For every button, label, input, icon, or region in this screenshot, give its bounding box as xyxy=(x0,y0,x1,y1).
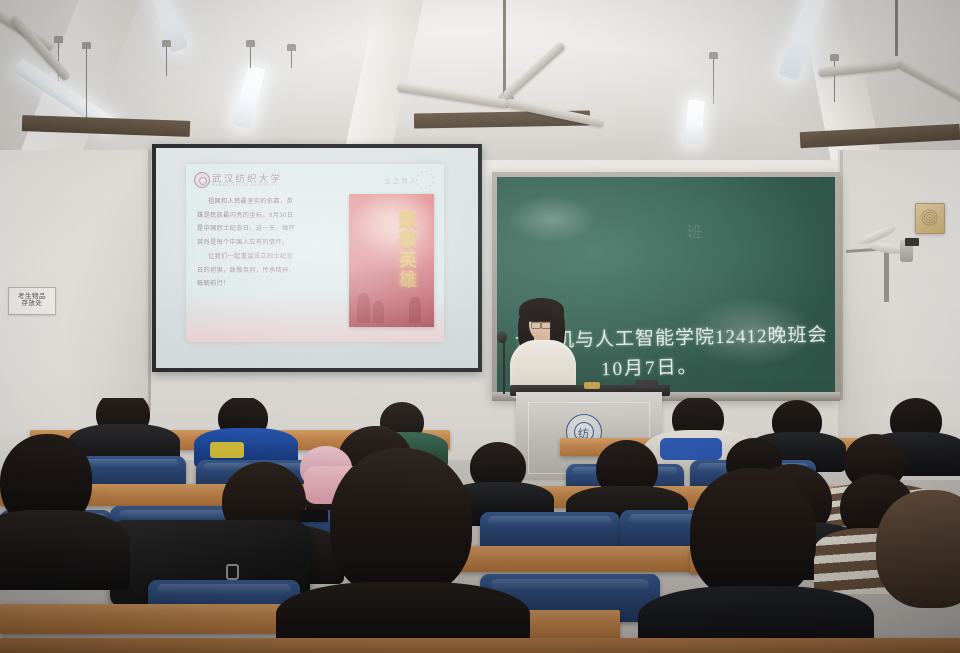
presenter xyxy=(500,296,590,396)
presenter-glasses xyxy=(531,321,551,328)
smartphone xyxy=(300,510,328,522)
chair xyxy=(480,512,620,550)
slide-header: 武汉纺织大学 WUHAN TEXTILE UNIVERSITY 立之为人 xyxy=(194,171,436,191)
poster-figure xyxy=(357,293,370,323)
slide-brand-text: 立之为人 xyxy=(384,175,418,185)
slide-brand-mark-icon xyxy=(416,171,434,189)
audience-area xyxy=(0,398,960,653)
university-name-english: WUHAN TEXTILE UNIVERSITY xyxy=(212,183,278,187)
podium-object xyxy=(584,382,600,389)
light-wire xyxy=(834,56,835,102)
chalk-smudge xyxy=(507,195,597,243)
classroom-photo: 考生物品 存放处 武汉纺织大学 WUHAN TEXTILE UNIVERSITY… xyxy=(0,0,960,653)
wall-speaker xyxy=(915,203,945,234)
wall-corner-edge xyxy=(148,150,151,410)
fan-rod xyxy=(895,0,898,56)
light-mount xyxy=(82,42,91,49)
light-mount xyxy=(830,54,839,61)
desk-row xyxy=(0,638,960,653)
slide-line: 让我们一起重温设立烈士纪念 xyxy=(197,251,325,264)
slide-poster-image: 致敬英雄 xyxy=(349,194,434,327)
wall-corner-edge xyxy=(840,150,843,400)
slide-line: 英烈是每个中国人应有的情怀。 xyxy=(197,237,325,250)
wall-fan-pole xyxy=(884,250,889,302)
blackboard-meeting-text: 晚班会 xyxy=(767,325,827,347)
blackboard-faint-text: 班 xyxy=(687,221,706,242)
slide-line: 祖国和人民最坚实的依靠，英 xyxy=(197,196,325,209)
backpack-buckle xyxy=(226,564,239,580)
presentation-slide: 武汉纺织大学 WUHAN TEXTILE UNIVERSITY 立之为人 祖国和… xyxy=(186,164,444,342)
light-mount xyxy=(709,52,718,59)
wall-fixture xyxy=(905,238,919,246)
light-mount xyxy=(54,36,63,43)
slide-line: 是中国烈士纪念日。这一天，缅怀 xyxy=(197,223,325,236)
sign-line-2: 存放处 xyxy=(22,301,43,308)
light-wire xyxy=(86,44,87,122)
projection-screen: 武汉纺织大学 WUHAN TEXTILE UNIVERSITY 立之为人 祖国和… xyxy=(152,144,482,372)
blackboard-line-2: 10月7日。 xyxy=(601,352,699,382)
light-mount xyxy=(246,40,255,47)
microphone-stand xyxy=(503,338,505,394)
light-mount xyxy=(287,44,296,51)
university-logo-icon xyxy=(194,172,210,188)
wall-sign-exam-storage: 考生物品 存放处 xyxy=(8,287,56,315)
poster-figure xyxy=(373,301,384,323)
poster-silhouettes xyxy=(349,266,434,327)
slide-body-text: 祖国和人民最坚实的依靠，英 雄是民族最闪亮的坐标。9月30日 是中国烈士纪念日。… xyxy=(197,196,325,292)
student-bag-yellow xyxy=(210,442,244,458)
blackboard-class-number: 12412 xyxy=(715,326,768,348)
student-head xyxy=(330,448,472,598)
student-head xyxy=(690,468,816,600)
student-shoulders xyxy=(0,510,130,590)
light-mount xyxy=(162,40,171,47)
slide-line: 日的初衷，致敬英烈，传承精神， xyxy=(197,265,325,278)
projection-surface: 武汉纺织大学 WUHAN TEXTILE UNIVERSITY 立之为人 祖国和… xyxy=(156,148,478,368)
slide-line: 砥砺前行！ xyxy=(197,278,325,291)
fan-rod xyxy=(503,0,506,96)
microphone-head xyxy=(497,331,507,343)
light-wire xyxy=(166,42,167,76)
podium-object xyxy=(636,380,658,388)
student-head xyxy=(876,490,960,608)
poster-figure xyxy=(409,297,421,323)
student-clothing-accent xyxy=(660,438,722,460)
slide-line: 雄是民族最闪亮的坐标。9月30日 xyxy=(197,210,325,223)
light-wire xyxy=(713,54,714,104)
